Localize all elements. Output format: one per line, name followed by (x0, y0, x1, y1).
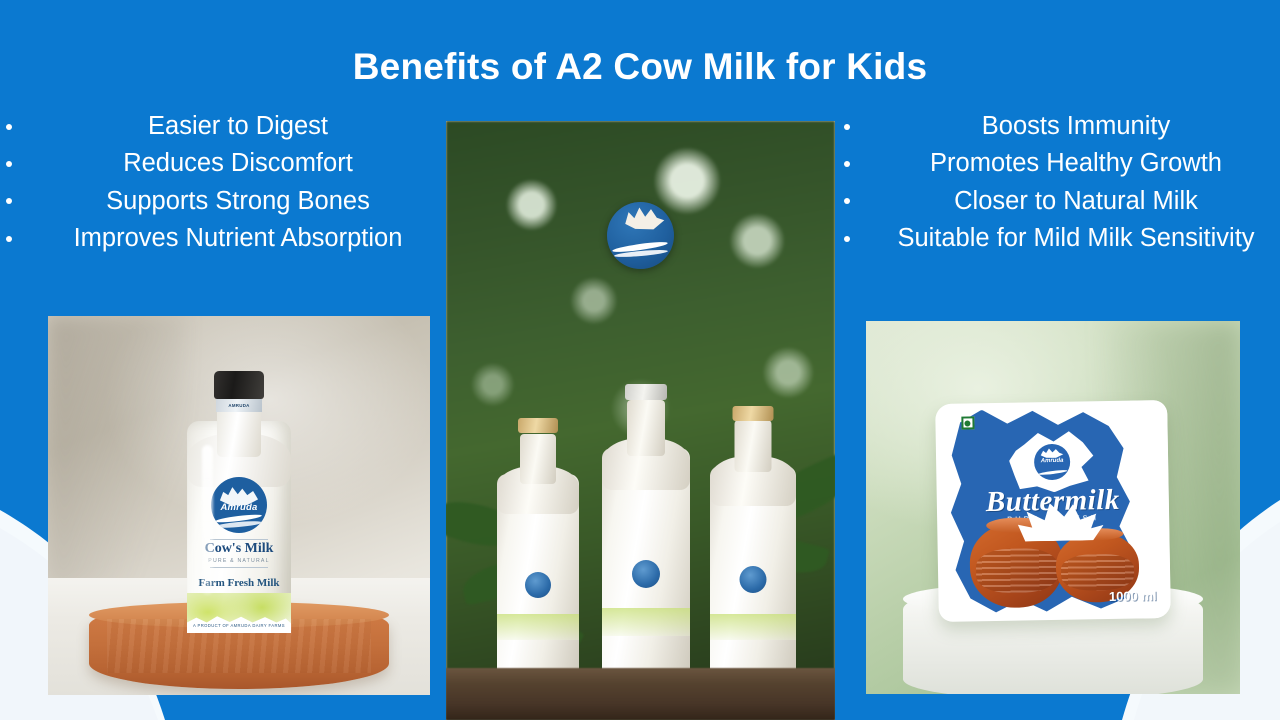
product-photo-cow-milk-bottle: AMRUDA Amruda Cow's Milk PURE & NATURAL … (48, 316, 430, 695)
pouch-volume-label: 1000 ml (1109, 588, 1157, 604)
wave-line-icon (1038, 469, 1067, 475)
bottle-neck (627, 400, 665, 456)
product-photo-buttermilk-pouch: Amruda Buttermilk PURE & FRESH (866, 321, 1240, 694)
amruda-logo-icon (632, 560, 660, 588)
bullet-dot-icon (844, 198, 850, 204)
bottle-cap (733, 406, 774, 421)
milk-bottle (497, 418, 579, 674)
bottle-neck-seal: AMRUDA (216, 399, 262, 412)
amruda-logo-icon: Amruda (211, 477, 267, 533)
bullet-dot-icon (844, 161, 850, 167)
amruda-logo-icon (740, 566, 767, 593)
amruda-logo-icon: Amruda (1034, 444, 1071, 481)
label-field-graphic (710, 614, 796, 640)
brand-name: Amruda (211, 502, 267, 513)
bottle-neck (520, 434, 556, 484)
page-title: Benefits of A2 Cow Milk for Kids (0, 47, 1280, 88)
list-item-label: Closer to Natural Milk (954, 187, 1198, 215)
list-item: Suitable for Mild Milk Sensitivity (876, 220, 1276, 257)
vegetarian-mark-icon (961, 416, 974, 429)
bullet-dot-icon (6, 236, 12, 242)
pot-bands (976, 548, 1058, 593)
bottle-cap (625, 384, 667, 400)
amruda-logo-icon (525, 572, 551, 598)
label-footer-text: A PRODUCT OF AMRUDA DAIRY FARMS (187, 623, 291, 628)
label-field-graphic (602, 608, 690, 636)
cow-silhouette-icon (624, 206, 666, 231)
buttermilk-pouch: Amruda Buttermilk PURE & FRESH (935, 400, 1171, 622)
list-item-label: Promotes Healthy Growth (930, 149, 1222, 177)
list-item-label: Easier to Digest (148, 112, 328, 140)
bottle-highlight (202, 445, 213, 595)
bullet-dot-icon (6, 161, 12, 167)
pot-bands (1061, 553, 1134, 590)
brand-name: Amruda (1034, 457, 1070, 464)
benefits-list-right: Boosts Immunity Promotes Healthy Growth … (842, 108, 1276, 257)
list-item-label: Improves Nutrient Absorption (74, 224, 403, 252)
seal-text: AMRUDA (216, 399, 262, 412)
list-item: Supports Strong Bones (38, 183, 438, 220)
list-item-label: Supports Strong Bones (106, 187, 370, 215)
bottle-cap (214, 371, 264, 399)
backdrop-shadow (48, 316, 186, 589)
bottle-neck (735, 420, 772, 472)
benefits-list-left: Easier to Digest Reduces Discomfort Supp… (4, 108, 438, 257)
amruda-logo-icon (607, 202, 674, 269)
list-item: Promotes Healthy Growth (876, 145, 1276, 182)
list-item: Closer to Natural Milk (876, 183, 1276, 220)
list-item: Easier to Digest (38, 108, 438, 145)
bullet-dot-icon (844, 236, 850, 242)
poster-canvas: Benefits of A2 Cow Milk for Kids Easier … (0, 0, 1280, 720)
milk-bottle: AMRUDA Amruda Cow's Milk PURE & NATURAL … (187, 371, 291, 633)
milk-bottle (602, 384, 690, 674)
list-item: Reduces Discomfort (38, 145, 438, 182)
bullet-dot-icon (844, 124, 850, 130)
milk-bottle (710, 406, 796, 674)
list-item-label: Boosts Immunity (982, 112, 1170, 140)
list-item-label: Reduces Discomfort (123, 149, 353, 177)
label-divider (210, 539, 268, 540)
bottle-cap (518, 418, 558, 433)
label-divider (210, 567, 268, 568)
list-item: Boosts Immunity (876, 108, 1276, 145)
label-field-graphic (497, 614, 579, 640)
list-item: Improves Nutrient Absorption (38, 220, 438, 257)
bullet-dot-icon (6, 198, 12, 204)
bullet-dot-icon (6, 124, 12, 130)
list-item-label: Suitable for Mild Milk Sensitivity (897, 224, 1254, 252)
wooden-ledge (446, 668, 835, 720)
